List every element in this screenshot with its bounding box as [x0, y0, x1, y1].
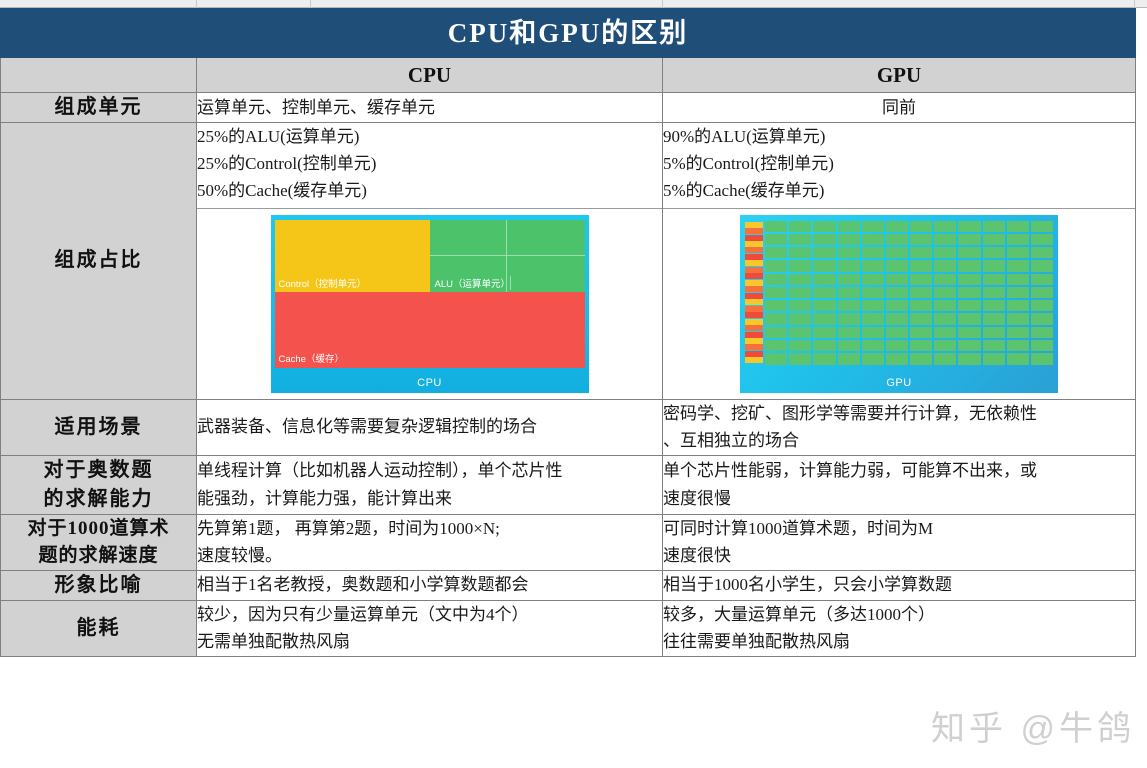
gpu-core-cell — [1007, 221, 1029, 232]
gpu-core-cell — [910, 313, 932, 324]
gpu-core-cell — [765, 287, 787, 298]
gpu-core-cell — [910, 260, 932, 271]
gpu-core-cell — [1007, 300, 1029, 311]
row-label-use-cases: 适用场景 — [1, 399, 197, 455]
gpu-core-cell — [838, 234, 860, 245]
page-title: CPU和GPU的区别 — [448, 18, 688, 48]
cell-line: 可同时计算1000道算术题，时间为M — [663, 515, 1135, 543]
gpu-core-cell — [789, 247, 811, 258]
gpu-diagram-wrapper: GPU — [663, 209, 1135, 399]
gpu-core-cell — [789, 313, 811, 324]
gpu-core-cell — [862, 287, 884, 298]
cell-line: 速度较慢。 — [197, 542, 662, 570]
gpu-core-cell — [934, 340, 956, 351]
gpu-core-cell — [1031, 234, 1053, 245]
gpu-core-cell — [910, 247, 932, 258]
gpu-core-cell — [838, 274, 860, 285]
gpu-core-cell — [1007, 247, 1029, 258]
gpu-core-cell — [838, 287, 860, 298]
cell-line: 相当于1名老教授，奥数题和小学算数题都会 — [197, 571, 662, 599]
gpu-core-cell — [1031, 260, 1053, 271]
gpu-core-cell — [765, 353, 787, 364]
gpu-core-cell — [910, 340, 932, 351]
gpu-core-cell — [886, 234, 908, 245]
gpu-core-cell — [1007, 287, 1029, 298]
gpu-core-cell — [789, 274, 811, 285]
cell-gpu-use-cases: 密码学、挖矿、图形学等需要并行计算，无依赖性 、互相独立的场合 — [663, 399, 1136, 455]
gpu-control-stripe — [745, 299, 763, 305]
gpu-control-stripe — [745, 241, 763, 247]
row-label-composition-ratio: 组成占比 — [1, 123, 197, 400]
gpu-core-cell — [1031, 274, 1053, 285]
gpu-core-cell — [934, 353, 956, 364]
gpu-control-stripe — [745, 260, 763, 266]
gpu-core-cell — [838, 340, 860, 351]
gpu-core-cell — [838, 327, 860, 338]
gpu-core-cell — [813, 221, 835, 232]
gpu-core-cell — [958, 234, 980, 245]
gpu-ratio-list: 90%的ALU(运算单元) 5%的Control(控制单元) 5%的Cache(… — [663, 123, 1135, 209]
gpu-core-cell — [886, 221, 908, 232]
cell-cpu-composition-units: 运算单元、控制单元、缓存单元 — [197, 93, 663, 123]
gpu-core-cell — [1007, 340, 1029, 351]
gpu-core-cell — [958, 313, 980, 324]
gpu-core-cell — [934, 221, 956, 232]
cell-line: 运算单元、控制单元、缓存单元 — [197, 94, 662, 122]
cell-line: 能强劲，计算能力强，能计算出来 — [197, 485, 662, 513]
gpu-control-stripe — [745, 222, 763, 228]
gpu-core-cell — [958, 327, 980, 338]
table-row: 能耗 较少，因为只有少量运算单元（文中为4个） 无需单独配散热风扇 较多，大量运… — [1, 600, 1136, 656]
cell-line: 较少，因为只有少量运算单元（文中为4个） — [197, 601, 662, 629]
cpu-top-section: Control（控制单元） ALU（运算单元） — [275, 220, 585, 292]
gpu-core-cell — [886, 247, 908, 258]
gpu-core-cell — [886, 340, 908, 351]
title-cell: CPU和GPU的区别 — [1, 9, 1136, 58]
gpu-control-stripe — [745, 357, 763, 363]
gpu-core-cell — [886, 327, 908, 338]
gpu-core-cell — [765, 221, 787, 232]
table-row: 对于奥数题 的求解能力 单线程计算（比如机器人运动控制），单个芯片性 能强劲，计… — [1, 455, 1136, 514]
gpu-core-cell — [1031, 221, 1053, 232]
gpu-control-column — [745, 221, 763, 365]
cpu-cache-label: Cache（缓存） — [279, 351, 344, 365]
gpu-core-cell — [910, 221, 932, 232]
gpu-core-cell — [765, 313, 787, 324]
gpu-core-cell — [983, 300, 1005, 311]
gpu-core-cell — [1031, 300, 1053, 311]
cpu-chip-label: CPU — [271, 377, 589, 389]
table-row: 对于1000道算术 题的求解速度 先算第1题， 再算第2题，时间为1000×N;… — [1, 514, 1136, 570]
cell-line: 速度很快 — [663, 542, 1135, 570]
gpu-core-cell — [765, 327, 787, 338]
cell-line: 、互相独立的场合 — [663, 427, 1135, 455]
gpu-core-cell — [813, 234, 835, 245]
gpu-core-cell — [958, 353, 980, 364]
gpu-control-stripe — [745, 325, 763, 331]
gpu-core-cell — [862, 247, 884, 258]
cpu-control-block: Control（控制单元） — [275, 220, 430, 292]
gpu-core-cell — [1007, 260, 1029, 271]
gpu-core-cell — [958, 340, 980, 351]
gpu-chip-label: GPU — [740, 377, 1058, 389]
cell-line: 单个芯片性能弱，计算能力弱，可能算不出来，或 — [663, 457, 1135, 485]
gpu-control-stripe — [745, 286, 763, 292]
gpu-core-cell — [862, 313, 884, 324]
cell-line: 较多，大量运算单元（多达1000个） — [663, 601, 1135, 629]
cell-line: 单线程计算（比如机器人运动控制），单个芯片性 — [197, 457, 662, 485]
gpu-core-cell — [1031, 327, 1053, 338]
cpu-control-label: Control（控制单元） — [279, 276, 367, 290]
gpu-core-cell — [1007, 274, 1029, 285]
gpu-core-cell — [886, 300, 908, 311]
table-header-row: CPU GPU — [1, 58, 1136, 93]
cell-cpu-math-olympiad-ability: 单线程计算（比如机器人运动控制），单个芯片性 能强劲，计算能力强，能计算出来 — [197, 455, 663, 514]
cpu-ratio-list: 25%的ALU(运算单元) 25%的Control(控制单元) 50%的Cach… — [197, 123, 662, 209]
gpu-core-cell — [789, 234, 811, 245]
gpu-core-cell — [958, 274, 980, 285]
cpu-gpu-comparison-table: CPU和GPU的区别 CPU GPU 组成单元 运算单元、控制单元、缓存单元 同… — [0, 8, 1136, 657]
gpu-control-stripe — [745, 319, 763, 325]
cpu-diagram-wrapper: Control（控制单元） ALU（运算单元） — [197, 209, 662, 399]
gpu-core-cell — [813, 313, 835, 324]
gpu-ratio-alu: 90%的ALU(运算单元) — [663, 123, 1135, 150]
cell-line: 相当于1000名小学生，只会小学算数题 — [663, 571, 1135, 599]
gpu-control-stripe — [745, 273, 763, 279]
gpu-core-cell — [910, 274, 932, 285]
row-label-line: 题的求解速度 — [1, 542, 196, 570]
cpu-alu-cell — [430, 220, 508, 256]
table-title-row: CPU和GPU的区别 — [1, 9, 1136, 58]
gpu-core-grid — [765, 221, 1053, 365]
gpu-core-cell — [862, 234, 884, 245]
header-gpu: GPU — [663, 58, 1136, 93]
cpu-alu-block: ALU（运算单元） — [430, 220, 585, 292]
gpu-core-cell — [934, 247, 956, 258]
cell-line: 武器装备、信息化等需要复杂逻辑控制的场合 — [197, 413, 662, 441]
gpu-control-stripe — [745, 351, 763, 357]
cpu-alu-cell — [507, 220, 585, 256]
cpu-chip-diagram: Control（控制单元） ALU（运算单元） — [271, 215, 589, 393]
gpu-core-cell — [765, 260, 787, 271]
gpu-core-cell — [765, 340, 787, 351]
gpu-core-cell — [958, 221, 980, 232]
cell-gpu-1000-problems-speed: 可同时计算1000道算术题，时间为M 速度很快 — [663, 514, 1136, 570]
gpu-core-cell — [813, 300, 835, 311]
comparison-sheet: CPU和GPU的区别 CPU GPU 组成单元 运算单元、控制单元、缓存单元 同… — [0, 8, 1147, 768]
gpu-control-stripe — [745, 267, 763, 273]
gpu-core-cell — [1007, 234, 1029, 245]
gpu-core-cell — [934, 327, 956, 338]
gpu-core-cell — [765, 274, 787, 285]
gpu-core-cell — [813, 340, 835, 351]
cpu-ratio-control: 25%的Control(控制单元) — [197, 150, 662, 177]
row-label-line: 的求解能力 — [1, 485, 196, 514]
gpu-control-stripe — [745, 280, 763, 286]
cell-gpu-composition-units: 同前 — [663, 93, 1136, 123]
gpu-core-cell — [838, 353, 860, 364]
gpu-control-stripe — [745, 338, 763, 344]
table-row: 组成单元 运算单元、控制单元、缓存单元 同前 — [1, 93, 1136, 123]
cell-cpu-composition-ratio: 25%的ALU(运算单元) 25%的Control(控制单元) 50%的Cach… — [197, 123, 663, 400]
gpu-ratio-cache: 5%的Cache(缓存单元) — [663, 177, 1135, 204]
gpu-control-stripe — [745, 332, 763, 338]
gpu-control-stripe — [745, 344, 763, 350]
table-row: 形象比喻 相当于1名老教授，奥数题和小学算数题都会 相当于1000名小学生，只会… — [1, 570, 1136, 600]
row-label-math-olympiad-ability: 对于奥数题 的求解能力 — [1, 455, 197, 514]
gpu-core-cell — [1031, 247, 1053, 258]
header-blank-cell — [1, 58, 197, 93]
cpu-ratio-cache: 50%的Cache(缓存单元) — [197, 177, 662, 204]
gpu-core-cell — [1031, 287, 1053, 298]
cpu-alu-cell — [507, 256, 585, 292]
gpu-core-cell — [862, 327, 884, 338]
gpu-control-stripe — [745, 306, 763, 312]
gpu-core-cell — [934, 313, 956, 324]
gpu-core-cell — [983, 340, 1005, 351]
cell-gpu-analogy: 相当于1000名小学生，只会小学算数题 — [663, 570, 1136, 600]
gpu-core-cell — [813, 287, 835, 298]
gpu-core-cell — [789, 221, 811, 232]
header-cpu: CPU — [197, 58, 663, 93]
gpu-core-cell — [765, 234, 787, 245]
gpu-core-cell — [910, 234, 932, 245]
cell-line: 速度很慢 — [663, 485, 1135, 513]
gpu-ratio-control: 5%的Control(控制单元) — [663, 150, 1135, 177]
gpu-core-cell — [1007, 353, 1029, 364]
gpu-core-cell — [765, 247, 787, 258]
cell-cpu-1000-problems-speed: 先算第1题， 再算第2题，时间为1000×N; 速度较慢。 — [197, 514, 663, 570]
gpu-core-cell — [983, 353, 1005, 364]
cell-line: 往往需要单独配散热风扇 — [663, 628, 1135, 656]
cpu-alu-label: ALU（运算单元） — [435, 276, 511, 290]
gpu-control-stripe — [745, 312, 763, 318]
cell-gpu-power-consumption: 较多，大量运算单元（多达1000个） 往往需要单独配散热风扇 — [663, 600, 1136, 656]
row-label-analogy: 形象比喻 — [1, 570, 197, 600]
gpu-core-cell — [958, 300, 980, 311]
gpu-core-cell — [910, 353, 932, 364]
gpu-core-cell — [1007, 327, 1029, 338]
gpu-control-stripe — [745, 247, 763, 253]
cell-gpu-math-olympiad-ability: 单个芯片性能弱，计算能力弱，可能算不出来，或 速度很慢 — [663, 455, 1136, 514]
cell-cpu-analogy: 相当于1名老教授，奥数题和小学算数题都会 — [197, 570, 663, 600]
gpu-core-cell — [983, 247, 1005, 258]
gpu-core-cell — [862, 353, 884, 364]
gpu-core-cell — [983, 327, 1005, 338]
gpu-core-cell — [983, 274, 1005, 285]
gpu-core-cell — [813, 327, 835, 338]
cpu-cache-block: Cache（缓存） — [275, 292, 585, 368]
gpu-control-stripe — [745, 235, 763, 241]
gpu-core-cell — [886, 274, 908, 285]
gpu-core-cell — [862, 340, 884, 351]
cpu-ratio-alu: 25%的ALU(运算单元) — [197, 123, 662, 150]
gpu-control-stripe — [745, 254, 763, 260]
gpu-core-cell — [934, 300, 956, 311]
gpu-core-cell — [813, 274, 835, 285]
gpu-core-cell — [910, 327, 932, 338]
gpu-core-cell — [1007, 313, 1029, 324]
gpu-core-cell — [789, 353, 811, 364]
gpu-core-cell — [813, 353, 835, 364]
gpu-chip-body — [745, 221, 1053, 365]
gpu-core-cell — [910, 300, 932, 311]
gpu-core-cell — [838, 300, 860, 311]
gpu-core-cell — [789, 260, 811, 271]
row-label-1000-problems-speed: 对于1000道算术 题的求解速度 — [1, 514, 197, 570]
gpu-core-cell — [1031, 340, 1053, 351]
row-label-composition-units: 组成单元 — [1, 93, 197, 123]
gpu-core-cell — [983, 234, 1005, 245]
gpu-core-cell — [862, 221, 884, 232]
cell-gpu-composition-ratio: 90%的ALU(运算单元) 5%的Control(控制单元) 5%的Cache(… — [663, 123, 1136, 400]
gpu-core-cell — [838, 247, 860, 258]
gpu-core-cell — [838, 221, 860, 232]
gpu-core-cell — [934, 274, 956, 285]
gpu-core-cell — [983, 287, 1005, 298]
cell-cpu-power-consumption: 较少，因为只有少量运算单元（文中为4个） 无需单独配散热风扇 — [197, 600, 663, 656]
gpu-core-cell — [934, 287, 956, 298]
gpu-core-cell — [958, 287, 980, 298]
gpu-control-stripe — [745, 228, 763, 234]
gpu-core-cell — [862, 260, 884, 271]
gpu-core-cell — [862, 274, 884, 285]
gpu-core-cell — [838, 313, 860, 324]
cell-line: 同前 — [663, 94, 1135, 122]
gpu-core-cell — [958, 247, 980, 258]
gpu-core-cell — [789, 340, 811, 351]
gpu-core-cell — [789, 300, 811, 311]
gpu-core-cell — [934, 234, 956, 245]
gpu-core-cell — [983, 260, 1005, 271]
gpu-core-cell — [886, 353, 908, 364]
gpu-core-cell — [983, 221, 1005, 232]
gpu-core-cell — [789, 327, 811, 338]
cell-line: 无需单独配散热风扇 — [197, 628, 662, 656]
gpu-core-cell — [813, 260, 835, 271]
table-row: 适用场景 武器装备、信息化等需要复杂逻辑控制的场合 密码学、挖矿、图形学等需要并… — [1, 399, 1136, 455]
gpu-core-cell — [813, 247, 835, 258]
row-label-line: 对于奥数题 — [1, 456, 196, 485]
gpu-core-cell — [789, 287, 811, 298]
gpu-core-cell — [838, 260, 860, 271]
gpu-core-cell — [958, 260, 980, 271]
gpu-core-cell — [886, 313, 908, 324]
gpu-core-cell — [983, 313, 1005, 324]
cell-line: 密码学、挖矿、图形学等需要并行计算，无依赖性 — [663, 400, 1135, 428]
gpu-core-cell — [862, 300, 884, 311]
gpu-core-cell — [910, 287, 932, 298]
row-label-line: 对于1000道算术 — [1, 515, 196, 543]
clipped-row-above — [0, 0, 1147, 8]
cell-line: 先算第1题， 再算第2题，时间为1000×N; — [197, 515, 662, 543]
gpu-core-cell — [886, 260, 908, 271]
cell-cpu-use-cases: 武器装备、信息化等需要复杂逻辑控制的场合 — [197, 399, 663, 455]
gpu-control-stripe — [745, 293, 763, 299]
gpu-core-cell — [934, 260, 956, 271]
gpu-chip-diagram: GPU — [740, 215, 1058, 393]
gpu-core-cell — [765, 300, 787, 311]
gpu-core-cell — [1031, 313, 1053, 324]
table-row: 组成占比 25%的ALU(运算单元) 25%的Control(控制单元) 50%… — [1, 123, 1136, 400]
row-label-power-consumption: 能耗 — [1, 600, 197, 656]
cpu-chip-grid: Control（控制单元） ALU（运算单元） — [275, 220, 585, 368]
gpu-core-cell — [886, 287, 908, 298]
gpu-core-cell — [1031, 353, 1053, 364]
